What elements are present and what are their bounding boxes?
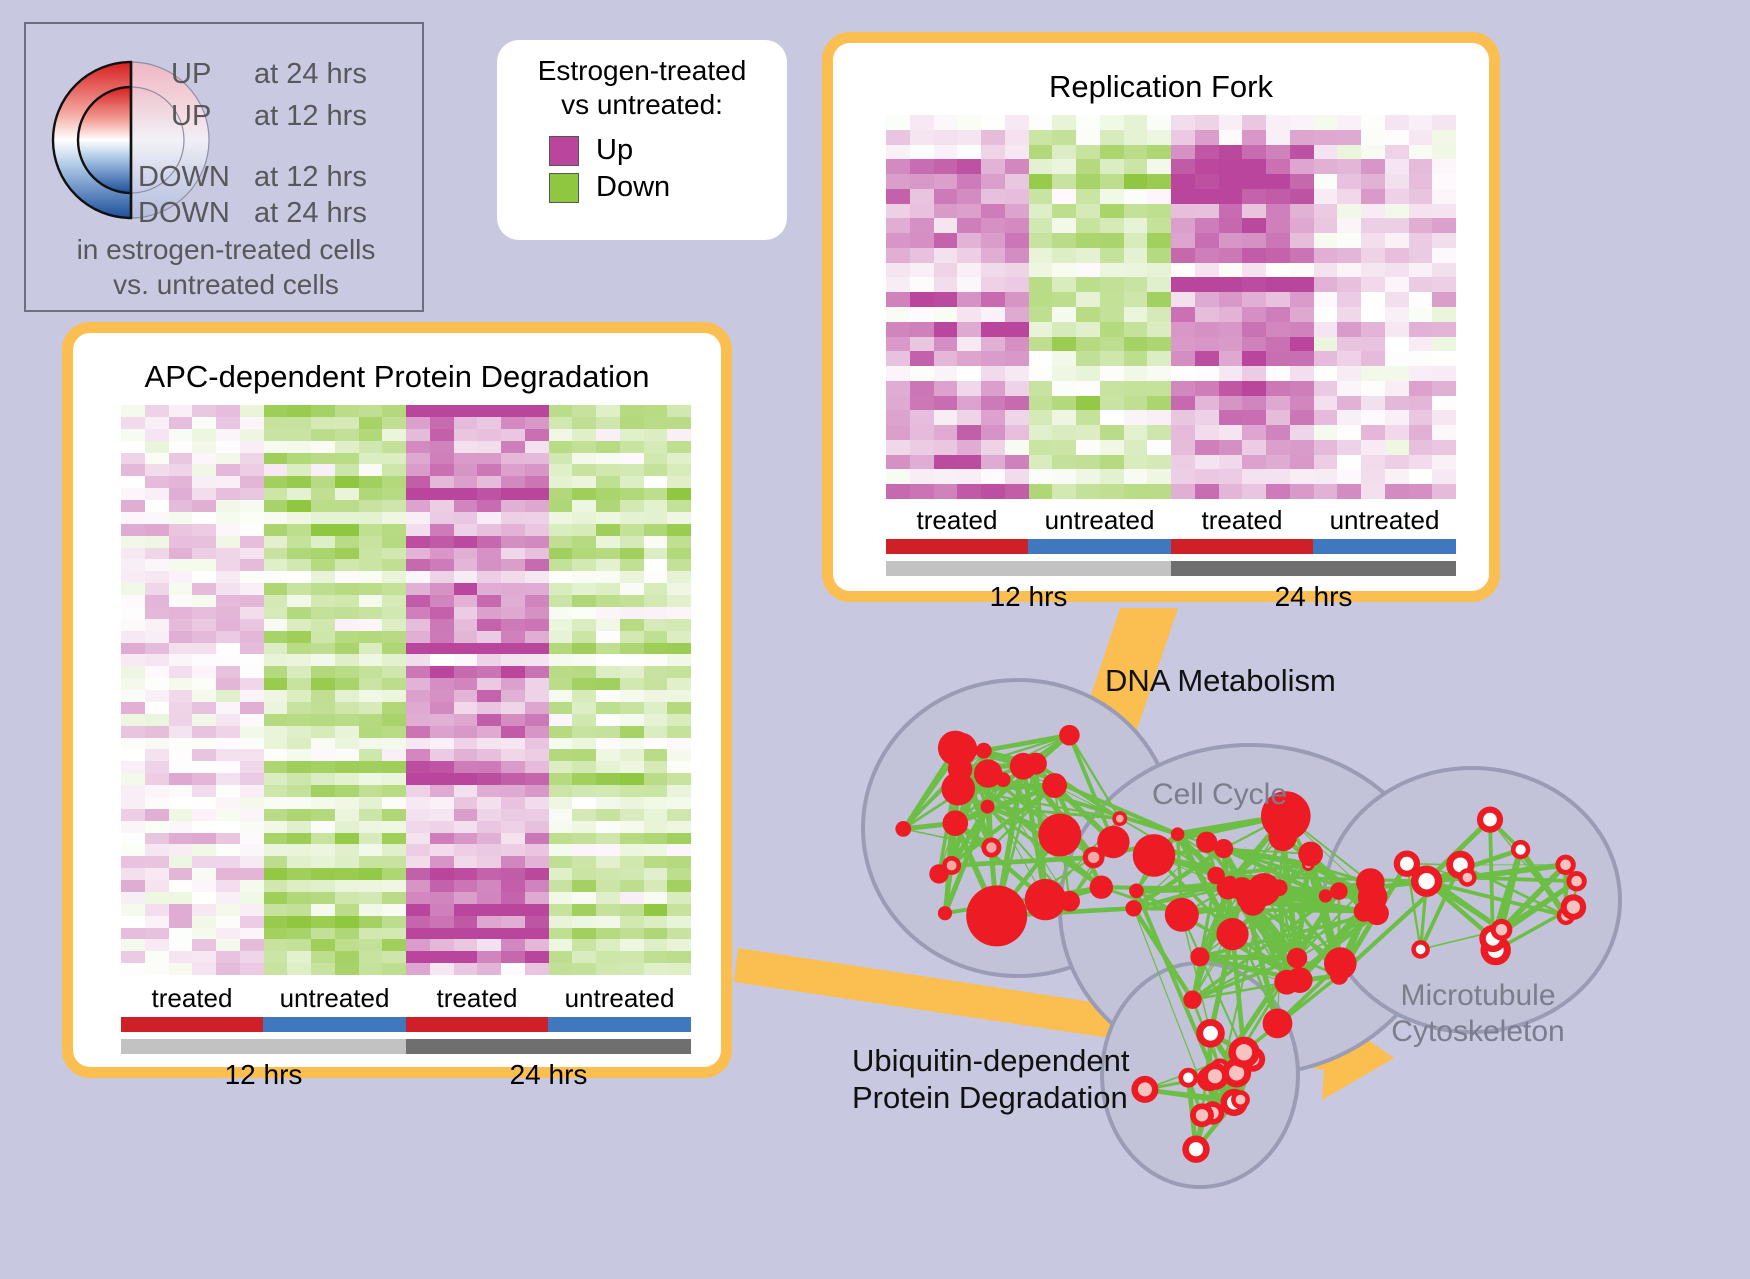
heatmap-cell bbox=[192, 833, 216, 845]
heatmap-cell bbox=[192, 654, 216, 666]
heatmap-cell bbox=[430, 844, 454, 856]
heatmap-cell bbox=[549, 619, 573, 631]
heatmap-cell bbox=[359, 821, 383, 833]
heatmap-cell bbox=[596, 464, 620, 476]
heatmap-cell bbox=[145, 607, 169, 619]
heatmap-cell bbox=[620, 928, 644, 940]
heatmap-cell bbox=[525, 951, 549, 963]
heatmap-cell bbox=[501, 702, 525, 714]
heatmap-cell bbox=[430, 963, 454, 975]
heatmap-cell bbox=[1314, 307, 1338, 322]
heatmap-cell bbox=[335, 476, 359, 488]
heatmap-cell bbox=[1242, 307, 1266, 322]
heatmap-cell bbox=[1219, 381, 1243, 396]
heatmap-cell bbox=[1100, 263, 1124, 278]
heatmap-cell bbox=[501, 500, 525, 512]
heatmap-cell bbox=[359, 643, 383, 655]
heatmap-cell bbox=[1337, 381, 1361, 396]
heatmap-cell bbox=[1242, 410, 1266, 425]
heatmap-cell bbox=[240, 464, 264, 476]
heatmap-cell bbox=[1171, 381, 1195, 396]
heatmap-cell bbox=[311, 797, 335, 809]
network-node[interactable] bbox=[1298, 842, 1323, 867]
heatmap-cell bbox=[477, 738, 501, 750]
heatmap-cell bbox=[335, 821, 359, 833]
heatmap-cell bbox=[934, 337, 958, 352]
heatmap-cell bbox=[501, 464, 525, 476]
heatmap-cell bbox=[572, 773, 596, 785]
heatmap-cell bbox=[1242, 396, 1266, 411]
heatmap-cell bbox=[572, 571, 596, 583]
heatmap-cell bbox=[620, 417, 644, 429]
heatmap-cell bbox=[886, 189, 910, 204]
heatmap-cell bbox=[620, 500, 644, 512]
heatmap-cell bbox=[477, 963, 501, 975]
heatmap-cell bbox=[216, 726, 240, 738]
rf-group-bar-2 bbox=[1171, 539, 1313, 554]
heatmap-cell bbox=[121, 607, 145, 619]
heatmap-cell bbox=[430, 607, 454, 619]
heatmap-cell bbox=[1385, 263, 1409, 278]
heatmap-cell bbox=[359, 773, 383, 785]
network-node[interactable] bbox=[1025, 879, 1066, 920]
heatmap-cell bbox=[667, 654, 691, 666]
heatmap-cell bbox=[382, 429, 406, 441]
heatmap-cell bbox=[549, 559, 573, 571]
heatmap-cell bbox=[910, 277, 934, 292]
heatmap-cell bbox=[886, 218, 910, 233]
heatmap-cell bbox=[501, 749, 525, 761]
heatmap-cell bbox=[240, 500, 264, 512]
heatmap-cell bbox=[501, 785, 525, 797]
heatmap-cell bbox=[359, 963, 383, 975]
network-node[interactable] bbox=[1237, 892, 1253, 908]
heatmap-cell bbox=[121, 524, 145, 536]
heatmap-cell bbox=[981, 248, 1005, 263]
heatmap-cell bbox=[644, 797, 668, 809]
heatmap-cell bbox=[145, 809, 169, 821]
heatmap-cell bbox=[501, 607, 525, 619]
heatmap-cell bbox=[1409, 425, 1433, 440]
heatmap-cell bbox=[145, 726, 169, 738]
heatmap-cell bbox=[382, 500, 406, 512]
network-node[interactable] bbox=[1038, 814, 1081, 857]
heatmap-cell bbox=[644, 833, 668, 845]
heatmap-cell bbox=[240, 714, 264, 726]
heatmap-cell bbox=[264, 654, 288, 666]
heatmap-cell bbox=[1147, 440, 1171, 455]
heatmap-cell bbox=[477, 797, 501, 809]
heatmap-cell bbox=[287, 643, 311, 655]
network-node[interactable] bbox=[1274, 970, 1299, 995]
heatmap-cell bbox=[216, 453, 240, 465]
heatmap-cell bbox=[1409, 337, 1433, 352]
heatmap-cell bbox=[287, 904, 311, 916]
heatmap-cell bbox=[572, 619, 596, 631]
network-node[interactable] bbox=[1217, 877, 1240, 900]
heatmap-cell bbox=[572, 939, 596, 951]
heatmap-cell bbox=[1242, 351, 1266, 366]
heatmap-cell bbox=[1242, 484, 1266, 499]
heatmap-cell bbox=[1195, 396, 1219, 411]
heatmap-cell bbox=[667, 607, 691, 619]
heatmap-cell bbox=[886, 425, 910, 440]
rf-time-label-0: 12 hrs bbox=[886, 581, 1171, 613]
heatmap-cell bbox=[406, 631, 430, 643]
heatmap-cell bbox=[169, 880, 193, 892]
apc-group-label-3: untreated bbox=[548, 983, 691, 1014]
heatmap-cell bbox=[549, 714, 573, 726]
heatmap-cell bbox=[430, 476, 454, 488]
heatmap-cell bbox=[886, 292, 910, 307]
heatmap-cell bbox=[335, 856, 359, 868]
heatmap-cell bbox=[477, 690, 501, 702]
heatmap-cell bbox=[1005, 145, 1029, 160]
heatmap-cell bbox=[454, 607, 478, 619]
heatmap-cell bbox=[501, 441, 525, 453]
heatmap-cell bbox=[430, 488, 454, 500]
heatmap-cell bbox=[644, 785, 668, 797]
heatmap-cell bbox=[406, 441, 430, 453]
heatmap-cell bbox=[216, 571, 240, 583]
heatmap-cell bbox=[287, 797, 311, 809]
heatmap-cell bbox=[549, 595, 573, 607]
heatmap-cell bbox=[525, 773, 549, 785]
heatmap-cell bbox=[501, 512, 525, 524]
heatmap-cell bbox=[240, 738, 264, 750]
network-node[interactable] bbox=[981, 800, 995, 814]
heatmap-cell bbox=[525, 595, 549, 607]
heatmap-cell bbox=[264, 595, 288, 607]
heatmap-cell bbox=[1409, 322, 1433, 337]
heatmap-cell bbox=[957, 233, 981, 248]
heatmap-cell bbox=[525, 702, 549, 714]
heatmap-cell bbox=[240, 559, 264, 571]
heatmap-cell bbox=[264, 453, 288, 465]
heatmap-cell bbox=[406, 607, 430, 619]
heatmap-cell bbox=[145, 797, 169, 809]
heatmap-cell bbox=[1314, 410, 1338, 425]
heatmap-cell bbox=[216, 524, 240, 536]
network-node-core bbox=[1567, 901, 1580, 914]
heatmap-cell bbox=[287, 761, 311, 773]
heatmap-cell bbox=[430, 749, 454, 761]
heatmap-cell bbox=[121, 749, 145, 761]
heatmap-cell bbox=[1124, 322, 1148, 337]
heatmap-cell bbox=[981, 277, 1005, 292]
heatmap-cell bbox=[169, 441, 193, 453]
heatmap-cell bbox=[1076, 484, 1100, 499]
heatmap-cell bbox=[572, 607, 596, 619]
network-node[interactable] bbox=[1196, 832, 1217, 853]
heatmap-cell bbox=[121, 738, 145, 750]
heatmap-cell bbox=[216, 892, 240, 904]
heatmap-cell bbox=[1005, 396, 1029, 411]
apc-time-bar-1 bbox=[406, 1039, 691, 1054]
heatmap-cell bbox=[644, 928, 668, 940]
heatmap-cell bbox=[1147, 130, 1171, 145]
heatmap-cell bbox=[430, 536, 454, 548]
heatmap-cell bbox=[1314, 425, 1338, 440]
heatmap-cell bbox=[957, 322, 981, 337]
heatmap-cell bbox=[359, 749, 383, 761]
heatmap-cell bbox=[382, 797, 406, 809]
heatmap-cell bbox=[264, 571, 288, 583]
heatmap-cell bbox=[1005, 218, 1029, 233]
network-node[interactable] bbox=[1059, 725, 1080, 746]
heatmap-cell bbox=[169, 405, 193, 417]
heatmap-cell bbox=[1314, 469, 1338, 484]
heatmap-cell bbox=[549, 429, 573, 441]
heatmap-cell bbox=[1361, 115, 1385, 130]
heatmap-cell bbox=[121, 761, 145, 773]
heatmap-cell bbox=[240, 868, 264, 880]
heatmap-cell bbox=[359, 678, 383, 690]
rf-group-label-0: treated bbox=[886, 505, 1028, 536]
heatmap-cell bbox=[1314, 292, 1338, 307]
heatmap-cell bbox=[1195, 484, 1219, 499]
network-node[interactable] bbox=[1319, 889, 1332, 902]
heatmap-cell bbox=[1100, 204, 1124, 219]
heatmap-cell bbox=[596, 500, 620, 512]
heatmap-cell bbox=[525, 559, 549, 571]
heatmap-cell bbox=[572, 488, 596, 500]
heatmap-cell bbox=[1124, 263, 1148, 278]
heatmap-cell bbox=[501, 868, 525, 880]
heatmap-cell bbox=[240, 844, 264, 856]
heatmap-cell bbox=[596, 571, 620, 583]
network-node[interactable] bbox=[1358, 882, 1388, 912]
heatmap-cell bbox=[549, 761, 573, 773]
heatmap-cell bbox=[335, 643, 359, 655]
heatmap-cell bbox=[1005, 174, 1029, 189]
network-node[interactable] bbox=[1330, 882, 1348, 900]
heatmap-cell bbox=[596, 916, 620, 928]
network-node[interactable] bbox=[1129, 884, 1144, 899]
heatmap-cell bbox=[287, 690, 311, 702]
heatmap-cell bbox=[501, 928, 525, 940]
heatmap-cell bbox=[501, 643, 525, 655]
heatmap-cell bbox=[1290, 263, 1314, 278]
network-node[interactable] bbox=[943, 810, 969, 836]
heatmap-cell bbox=[1314, 204, 1338, 219]
heatmap-cell bbox=[1314, 455, 1338, 470]
heatmap-cell bbox=[287, 619, 311, 631]
heatmap-cell bbox=[1076, 174, 1100, 189]
heatmap-cell bbox=[549, 951, 573, 963]
heatmap-cell bbox=[549, 583, 573, 595]
heatmap-cell bbox=[145, 453, 169, 465]
heatmap-cell bbox=[1266, 277, 1290, 292]
heatmap-cell bbox=[359, 714, 383, 726]
heatmap-cell bbox=[264, 464, 288, 476]
network-node[interactable] bbox=[1125, 900, 1141, 916]
heatmap-cell bbox=[1171, 115, 1195, 130]
heatmap-cell bbox=[644, 714, 668, 726]
heatmap-cell bbox=[620, 559, 644, 571]
heatmap-cell bbox=[1290, 233, 1314, 248]
heatmap-cell bbox=[1385, 130, 1409, 145]
network-node[interactable] bbox=[1183, 991, 1201, 1009]
heatmap-cell bbox=[1029, 351, 1053, 366]
heatmap-cell bbox=[359, 417, 383, 429]
heatmap-cell bbox=[192, 476, 216, 488]
heatmap-cell bbox=[525, 868, 549, 880]
heatmap-cell bbox=[287, 583, 311, 595]
heatmap-cell bbox=[192, 666, 216, 678]
heatmap-cell bbox=[145, 678, 169, 690]
heatmap-cell bbox=[957, 469, 981, 484]
heatmap-cell bbox=[1337, 292, 1361, 307]
heatmap-cell bbox=[572, 643, 596, 655]
heatmap-cell bbox=[477, 749, 501, 761]
heatmap-cell bbox=[1171, 366, 1195, 381]
heatmap-cell bbox=[169, 583, 193, 595]
heatmap-cell bbox=[145, 892, 169, 904]
heatmap-cell bbox=[1100, 455, 1124, 470]
heatmap-cell bbox=[886, 381, 910, 396]
heatmap-cell bbox=[335, 868, 359, 880]
heatmap-cell bbox=[1337, 189, 1361, 204]
heatmap-cell bbox=[287, 464, 311, 476]
heatmap-cell bbox=[981, 204, 1005, 219]
heatmap-cell bbox=[264, 809, 288, 821]
heatmap-cell bbox=[145, 821, 169, 833]
heatmap-cell bbox=[287, 453, 311, 465]
heatmap-cell bbox=[169, 797, 193, 809]
heatmap-cell bbox=[910, 307, 934, 322]
heatmap-cell bbox=[169, 963, 193, 975]
heatmap-cell bbox=[667, 559, 691, 571]
heatmap-cell bbox=[145, 476, 169, 488]
heatmap-cell bbox=[1029, 115, 1053, 130]
heatmap-cell bbox=[454, 963, 478, 975]
heatmap-cell bbox=[454, 880, 478, 892]
heatmap-cell bbox=[406, 417, 430, 429]
heatmap-cell bbox=[287, 939, 311, 951]
heatmap-cell bbox=[311, 548, 335, 560]
heatmap-cell bbox=[430, 939, 454, 951]
heatmap-cell bbox=[1052, 218, 1076, 233]
heatmap-cell bbox=[216, 548, 240, 560]
heatmap-cell bbox=[335, 880, 359, 892]
heatmap-cell bbox=[1005, 292, 1029, 307]
heatmap-cell bbox=[1409, 381, 1433, 396]
heatmap-cell bbox=[644, 607, 668, 619]
heatmap-cell bbox=[264, 417, 288, 429]
heatmap-cell bbox=[620, 892, 644, 904]
heatmap-cell bbox=[216, 405, 240, 417]
heatmap-cell bbox=[145, 619, 169, 631]
heatmap-cell bbox=[169, 417, 193, 429]
heatmap-cell bbox=[430, 797, 454, 809]
figure-canvas: UP at 24 hrs UP at 12 hrs DOWN at 12 hrs… bbox=[0, 0, 1750, 1279]
heatmap-cell bbox=[240, 429, 264, 441]
heatmap-cell bbox=[667, 928, 691, 940]
heatmap-cell bbox=[1147, 381, 1171, 396]
key-item-down: Down bbox=[549, 171, 670, 204]
heatmap-cell bbox=[382, 464, 406, 476]
heatmap-cell bbox=[287, 548, 311, 560]
heatmap-cell bbox=[572, 548, 596, 560]
heatmap-cell bbox=[1385, 410, 1409, 425]
heatmap-cell bbox=[145, 500, 169, 512]
heatmap-cell bbox=[454, 429, 478, 441]
heatmap-cell bbox=[549, 453, 573, 465]
heatmap-cell bbox=[454, 939, 478, 951]
heatmap-cell bbox=[287, 441, 311, 453]
heatmap-cell bbox=[1124, 366, 1148, 381]
heatmap-cell bbox=[121, 678, 145, 690]
network-node[interactable] bbox=[974, 759, 1002, 787]
apc-time-label-0: 12 hrs bbox=[121, 1059, 406, 1091]
heatmap-cell bbox=[644, 690, 668, 702]
heatmap-cell bbox=[1171, 337, 1195, 352]
network-node-core bbox=[1183, 1073, 1193, 1083]
network-node[interactable] bbox=[1133, 834, 1176, 877]
heatmap-cell bbox=[145, 951, 169, 963]
heatmap-cell bbox=[1337, 396, 1361, 411]
heatmap-cell bbox=[1147, 189, 1171, 204]
network-node-core bbox=[1560, 860, 1571, 871]
heatmap-cell bbox=[644, 749, 668, 761]
heatmap-cell bbox=[1290, 145, 1314, 160]
heatmap-cell bbox=[311, 405, 335, 417]
network-node[interactable] bbox=[948, 757, 973, 782]
heatmap-cell bbox=[1100, 337, 1124, 352]
heatmap-cell bbox=[981, 263, 1005, 278]
heatmap-cell bbox=[1314, 159, 1338, 174]
heatmap-cell bbox=[477, 939, 501, 951]
heatmap-cell bbox=[477, 417, 501, 429]
heatmap-cell bbox=[454, 476, 478, 488]
heatmap-cell bbox=[1195, 292, 1219, 307]
network-node[interactable] bbox=[938, 906, 952, 920]
heatmap-cell bbox=[477, 714, 501, 726]
heatmap-cell bbox=[1242, 322, 1266, 337]
heatmap-cell bbox=[477, 654, 501, 666]
network-node-core bbox=[1236, 1095, 1246, 1105]
heatmap-cell bbox=[620, 548, 644, 560]
heatmap-cell bbox=[169, 726, 193, 738]
heatmap-cell bbox=[596, 726, 620, 738]
heatmap-cell bbox=[382, 868, 406, 880]
heatmap-cell bbox=[957, 425, 981, 440]
heatmap-cell bbox=[1409, 189, 1433, 204]
network-node[interactable] bbox=[1263, 1009, 1293, 1039]
heatmap-cell bbox=[335, 738, 359, 750]
heatmap-cell bbox=[1052, 440, 1076, 455]
heatmap-cell bbox=[169, 559, 193, 571]
heatmap-cell bbox=[192, 761, 216, 773]
heatmap-cell bbox=[1124, 130, 1148, 145]
heatmap-cell bbox=[667, 714, 691, 726]
heatmap-cell bbox=[406, 833, 430, 845]
heatmap-cell bbox=[1171, 159, 1195, 174]
heatmap-cell bbox=[192, 536, 216, 548]
heatmap-cell bbox=[596, 714, 620, 726]
cluster-label-dna-metabolism: DNA Metabolism bbox=[1105, 663, 1336, 699]
heatmap-cell bbox=[1124, 440, 1148, 455]
heatmap-cell bbox=[240, 631, 264, 643]
heatmap-cell bbox=[1219, 455, 1243, 470]
heatmap-cell bbox=[311, 583, 335, 595]
heatmap-cell bbox=[1432, 248, 1456, 263]
network-node[interactable] bbox=[966, 885, 1027, 946]
heatmap-cell bbox=[1029, 322, 1053, 337]
heatmap-cell bbox=[192, 963, 216, 975]
heatmap-cell bbox=[1171, 307, 1195, 322]
